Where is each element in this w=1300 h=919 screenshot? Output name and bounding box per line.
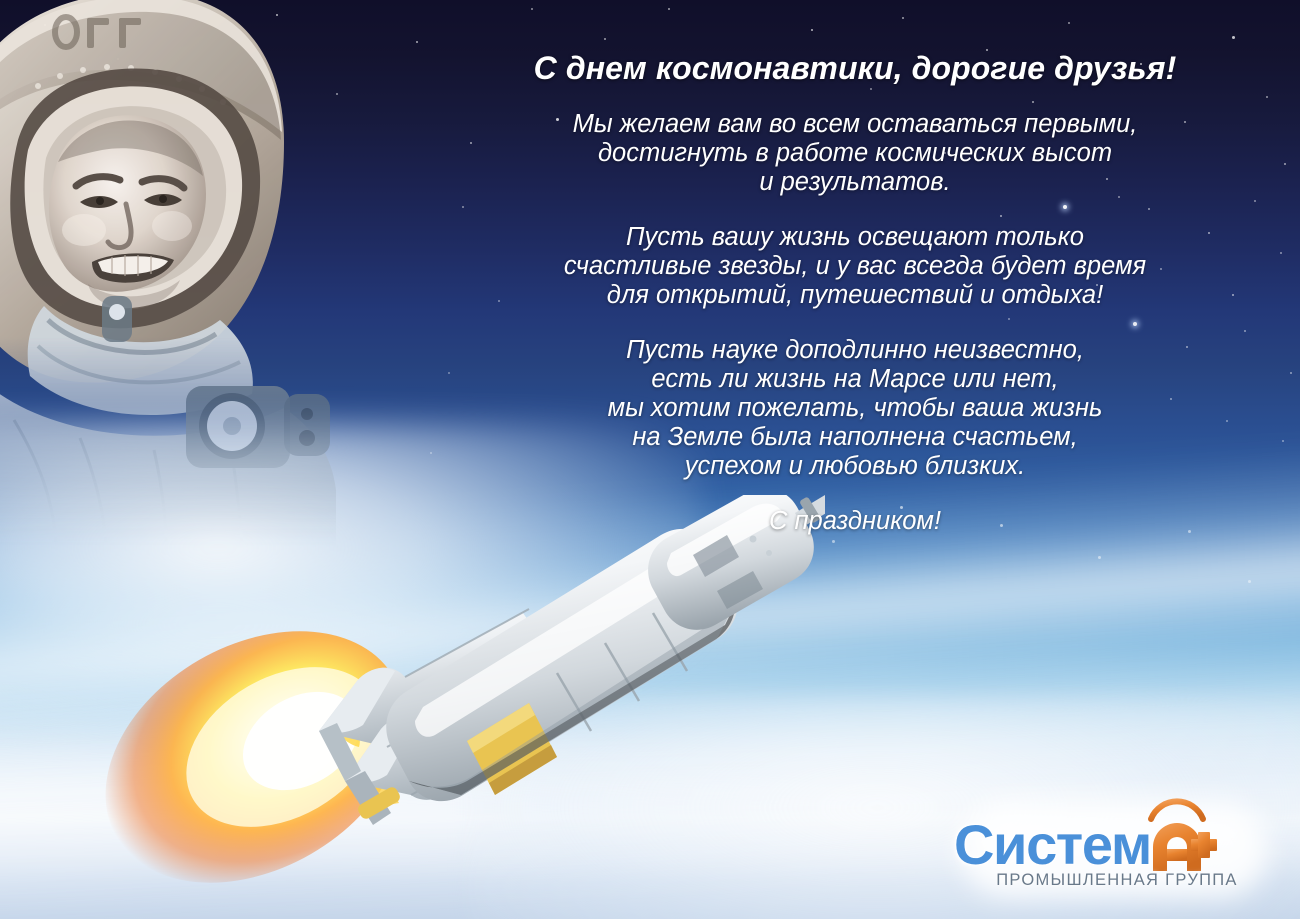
logo-wordmark-text: Систем: [954, 817, 1151, 873]
verse-line: С праздником!: [430, 507, 1280, 536]
logo-subtitle: ПРОМЫШЛЕННАЯ ГРУППА: [982, 871, 1252, 890]
verse-line: Мы желаем вам во всем оставаться первыми…: [430, 110, 1280, 139]
verse-line: для открытий, путешествий и отдыха!: [430, 281, 1280, 310]
verse-line: успехом и любовью близких.: [430, 452, 1280, 481]
greeting-closing: С праздником!: [430, 507, 1280, 536]
verse-line: мы хотим пожелать, чтобы ваша жизнь: [430, 394, 1280, 423]
verse-line: на Земле была наполнена счастьем,: [430, 423, 1280, 452]
company-logo[interactable]: Систем: [954, 795, 1274, 907]
greeting-verse-3: Пусть науке доподлинно неизвестно, есть …: [430, 336, 1280, 481]
greeting-verse-1: Мы желаем вам во всем оставаться первыми…: [430, 110, 1280, 197]
cosmonautics-day-greeting-card: С днем космонавтики, дорогие друзья! Мы …: [0, 0, 1300, 919]
greeting-title: С днем космонавтики, дорогие друзья!: [430, 50, 1280, 88]
greeting-verse-2: Пусть вашу жизнь освещают только счастли…: [430, 223, 1280, 310]
greeting-text-block: С днем космонавтики, дорогие друзья! Мы …: [430, 50, 1280, 537]
verse-line: есть ли жизнь на Марсе или нет,: [430, 365, 1280, 394]
verse-line: Пусть науке доподлинно неизвестно,: [430, 336, 1280, 365]
verse-line: и результатов.: [430, 168, 1280, 197]
verse-line: Пусть вашу жизнь освещают только: [430, 223, 1280, 252]
verse-line: счастливые звезды, и у вас всегда будет …: [430, 252, 1280, 281]
logo-wordmark-row: Систем: [954, 797, 1274, 873]
logo-a-plus-mark-icon: [1145, 797, 1219, 873]
verse-line: достигнуть в работе космических высот: [430, 139, 1280, 168]
